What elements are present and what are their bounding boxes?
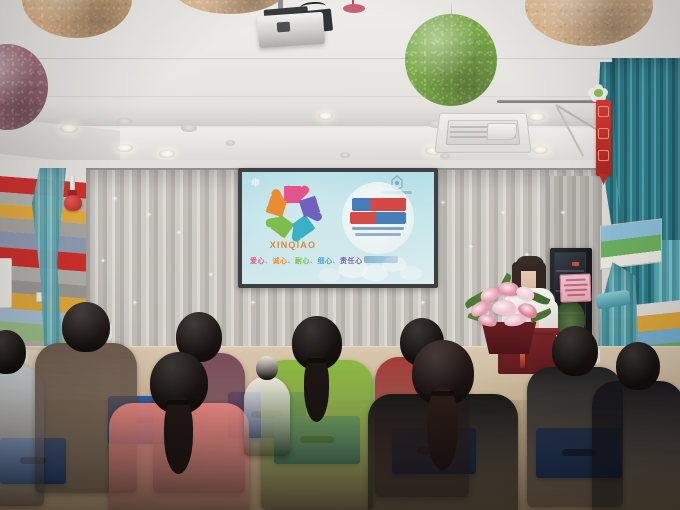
ceiling-downlight: [532, 146, 548, 154]
backdrop-star-icon: ✦: [468, 244, 474, 251]
lantern-glyph: [598, 106, 609, 117]
logo-heart-petal-icon: [271, 215, 295, 239]
ac-blade: [487, 123, 518, 140]
lily-bloom: [477, 313, 498, 329]
slide-tagline-separator: 、: [288, 258, 296, 265]
logo-heart-petal-icon: [299, 196, 320, 217]
photo-scene: ✦✦✦✦✦✦✦✦✦✦✦✦✦✦✦✦✦✦ ❅ XINQIAO 爱心、诚心、耐心、细心…: [0, 0, 680, 510]
backdrop-star-icon: ✦: [112, 196, 118, 203]
wall-display-board: [600, 218, 662, 270]
lily-arrangement: [464, 282, 556, 328]
slide-brand-text: XINQIAO: [258, 240, 328, 250]
slide-logo: [264, 186, 320, 242]
slide-badge-headline-2: [350, 212, 406, 224]
pink-notice-sign: [560, 273, 592, 302]
ceiling-soffit: [0, 104, 680, 126]
slide-tagline-item: 爱心: [250, 258, 265, 265]
slide-tagline-separator: 、: [310, 258, 318, 265]
av-status-led: [572, 262, 579, 266]
person-head: [62, 302, 110, 352]
hanging-ball-green-icon: [405, 14, 497, 106]
ceiling-downlight: [318, 112, 333, 120]
backdrop-star-icon: ✦: [560, 210, 566, 217]
projector-lens-icon: [277, 22, 291, 33]
av-shelf: [556, 270, 584, 272]
backdrop-star-icon: ✦: [420, 300, 426, 307]
ceiling-downlight: [60, 124, 78, 133]
slide-tagline-separator: 、: [265, 258, 273, 265]
lantern-glyph: [598, 128, 609, 139]
ceiling-downlight: [159, 150, 175, 158]
ceiling-seam: [0, 96, 680, 97]
ceiling-downlight: [181, 124, 197, 132]
ceiling-downlight: [440, 153, 450, 159]
backdrop-star-icon: ✦: [208, 272, 214, 279]
slide-badge-subtext: [355, 233, 401, 236]
slide-tagline: 爱心、诚心、耐心、细心、责任心: [250, 256, 370, 266]
backdrop-star-icon: ✦: [100, 258, 106, 265]
backdrop-star-icon: ✦: [176, 230, 182, 237]
backdrop-star-icon: ✦: [132, 300, 138, 307]
slide-tagline-item: 责任心: [340, 258, 363, 265]
flower-ornament-center: [594, 89, 603, 97]
projection-screen[interactable]: ❅ XINQIAO 爱心、诚心、耐心、细心、责任心: [242, 172, 434, 284]
person-head: [616, 342, 660, 390]
hair-tie: [307, 358, 326, 363]
projector-icon: [257, 12, 325, 49]
ceiling-downlight: [226, 140, 235, 146]
fire-alarm-bell-icon: [64, 195, 82, 211]
lantern-glyph: [598, 150, 609, 161]
person-head: [552, 326, 598, 376]
slide-flower-watermark-icon: ❅: [250, 176, 264, 190]
backdrop-star-icon: ✦: [440, 200, 446, 207]
ceiling-seam: [0, 58, 680, 59]
ponytail: [304, 355, 329, 423]
person-torso: [244, 376, 290, 456]
ponytail: [164, 397, 193, 475]
slide-badge-headline: [352, 198, 406, 211]
slide-tagline-item: 细心: [318, 258, 333, 265]
hanging-ball-red-icon: [343, 4, 365, 13]
ceiling-downlight: [528, 113, 545, 121]
hair-tie: [431, 391, 455, 396]
backdrop-star-icon: ✦: [250, 300, 256, 307]
slide-tagline-item: 诚心: [273, 258, 288, 265]
slide-tagline-separator: 、: [333, 258, 341, 265]
lily-bloom: [492, 300, 516, 315]
ceiling-downlight: [340, 152, 350, 158]
person-torso: [592, 381, 680, 510]
person-head: [256, 356, 278, 380]
slide-badge-subtext: [352, 227, 404, 230]
backdrop-star-icon: ✦: [500, 210, 506, 217]
ceiling-downlight: [117, 118, 132, 125]
slide-tagline-item: 耐心: [295, 258, 310, 265]
logo-heart-petal-icon: [266, 196, 287, 217]
hair-tie: [167, 400, 189, 405]
ponytail: [427, 388, 458, 471]
slide-footer-text: [364, 256, 398, 263]
podium-light: [520, 352, 525, 368]
ceiling-downlight: [116, 144, 133, 152]
wall-panel: [0, 258, 12, 308]
backdrop-star-icon: ✦: [146, 212, 152, 219]
